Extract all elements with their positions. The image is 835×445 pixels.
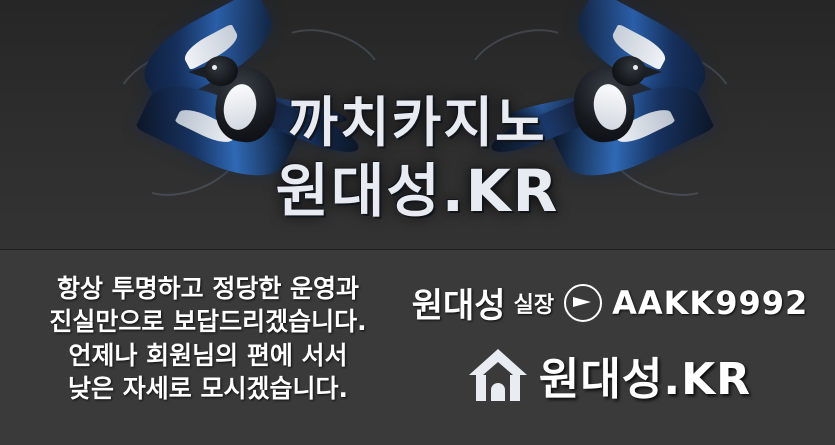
bird-beak: [644, 66, 662, 78]
telegram-icon[interactable]: [564, 284, 602, 322]
slogan-line: 언제나 회원님의 편에 서서: [28, 339, 388, 372]
bird-eye: [212, 65, 217, 70]
slogan-line: 항상 투명하고 정당한 운영과: [28, 272, 388, 305]
bird-head: [612, 56, 646, 86]
home-icon-roof-inner: [483, 362, 513, 375]
contact-role: 실장: [514, 287, 554, 319]
home-icon-wall-right: [510, 375, 520, 401]
magpie-bird-icon: [120, 12, 380, 202]
site-domain[interactable]: 원대성.KR: [539, 343, 751, 407]
bird-head: [204, 56, 238, 86]
slogan-line: 진실만으로 보답드리겠습니다.: [28, 305, 388, 338]
bird-eye: [633, 65, 638, 70]
promotional-banner: 까치카지노 원대성.KR 항상 투명하고 정당한 운영과 진실만으로 보답드리겠…: [0, 0, 835, 445]
bird-beak: [188, 66, 206, 78]
home-icon-door: [491, 383, 505, 401]
telegram-id[interactable]: AAKK9992: [612, 284, 808, 322]
banner-divider: [0, 249, 835, 250]
home-icon: [469, 349, 527, 401]
slogan-block: 항상 투명하고 정당한 운영과 진실만으로 보답드리겠습니다. 언제나 회원님의…: [28, 272, 388, 405]
contact-row: 원대성 실장 AAKK9992: [400, 278, 820, 327]
home-icon-wall-left: [476, 375, 486, 401]
contact-block: 원대성 실장 AAKK9992 원대성.KR: [400, 278, 820, 407]
magpie-bird-icon: [470, 12, 730, 202]
domain-row[interactable]: 원대성.KR: [400, 343, 820, 407]
contact-name: 원대성: [412, 278, 506, 327]
slogan-line: 낮은 자세로 모시겠습니다.: [28, 372, 388, 405]
